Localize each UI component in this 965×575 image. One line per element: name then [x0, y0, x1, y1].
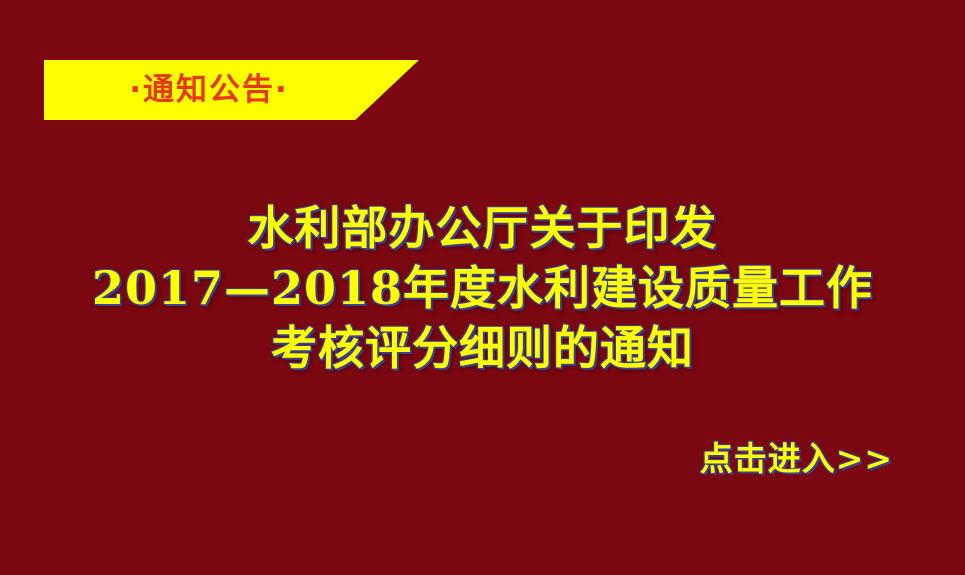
enter-link[interactable]: 点击进入>> — [700, 432, 893, 480]
page-title-line-1: 水利部办公厅关于印发 — [0, 198, 965, 258]
page-title-line-3: 考核评分细则的通知 — [0, 318, 965, 378]
notice-banner: ·通知公告· 水利部办公厅关于印发 2017—2018年度水利建设质量工作 考核… — [0, 0, 965, 575]
page-title: 水利部办公厅关于印发 2017—2018年度水利建设质量工作 考核评分细则的通知 — [0, 198, 965, 378]
notice-category-tag: ·通知公告· — [44, 60, 419, 120]
page-title-line-2: 2017—2018年度水利建设质量工作 — [0, 258, 965, 318]
notice-tag-label: ·通知公告· — [44, 60, 374, 120]
